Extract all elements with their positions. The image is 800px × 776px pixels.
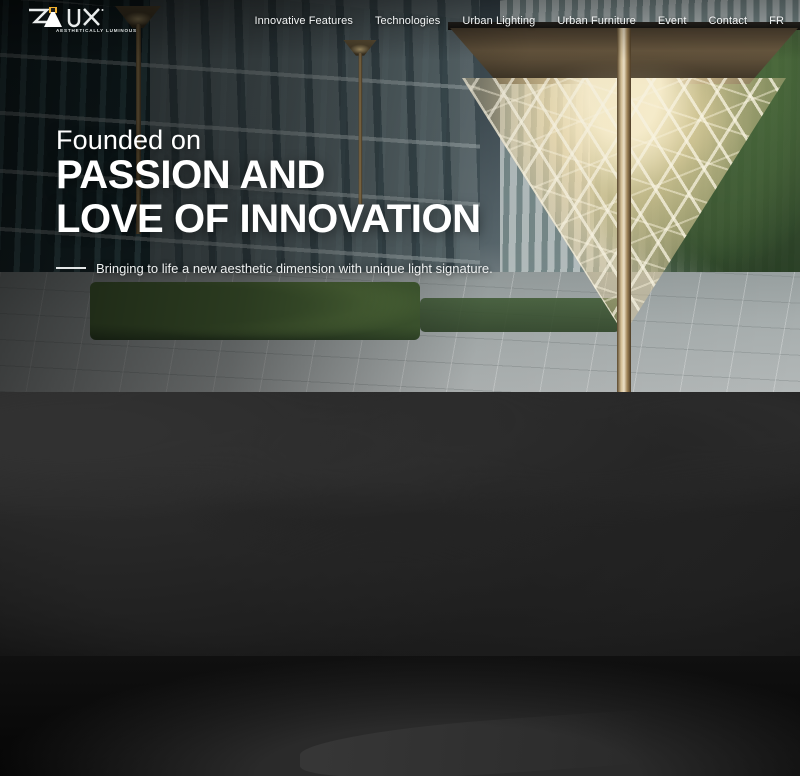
nav-technologies[interactable]: Technologies xyxy=(375,15,440,27)
hero-headline-line-2: LOVE OF INNOVATION xyxy=(56,198,493,241)
main-navigation: Innovative Features Technologies Urban L… xyxy=(254,15,784,27)
hero-pre-headline: Founded on xyxy=(56,126,493,154)
nav-contact[interactable]: Contact xyxy=(709,15,748,27)
hero-copy: Founded on PASSION AND LOVE OF INNOVATIO… xyxy=(56,126,493,276)
site-header: AESTHETICALLY LUMINOUS Innovative Featur… xyxy=(0,0,800,42)
nav-event[interactable]: Event xyxy=(658,15,687,27)
hero-headline-line-1: PASSION AND xyxy=(56,154,493,197)
logo-tagline: AESTHETICALLY LUMINOUS xyxy=(56,28,137,33)
hero-dash-divider xyxy=(56,267,86,269)
nav-language-fr[interactable]: FR xyxy=(769,15,784,27)
road-edge-highlight xyxy=(300,699,800,776)
features-foliage xyxy=(0,392,800,622)
site-logo[interactable]: AESTHETICALLY LUMINOUS xyxy=(26,3,126,39)
hero-section: AESTHETICALLY LUMINOUS Innovative Featur… xyxy=(0,0,800,392)
nav-innovative-features[interactable]: Innovative Features xyxy=(254,15,353,27)
innovative-features-section: INNOVATIVE FEATURES Evolving through cut… xyxy=(0,392,800,776)
hero-subheadline: Bringing to life a new aesthetic dimensi… xyxy=(96,261,493,276)
hero-subheadline-row: Bringing to life a new aesthetic dimensi… xyxy=(56,261,493,276)
zilux-lamp-logo-icon xyxy=(26,5,126,29)
nav-urban-furniture[interactable]: Urban Furniture xyxy=(557,15,636,27)
features-road xyxy=(0,656,800,776)
nav-urban-lighting[interactable]: Urban Lighting xyxy=(462,15,535,27)
